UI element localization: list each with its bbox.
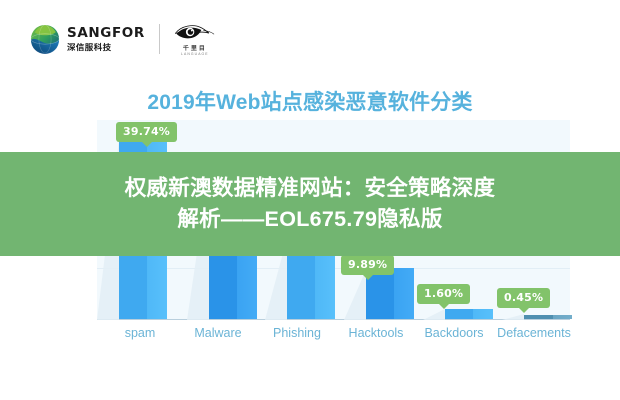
- overlay-line-2: 解析——EOL675.79隐私版: [125, 204, 496, 235]
- screenshot-canvas: SANGFOR 深信服科技 千里目 LANGUAGE 2019年Web站点感染恶…: [0, 0, 620, 400]
- bar-shadow-defacements: [502, 314, 524, 320]
- x-axis-label-hacktools: Hacktools: [331, 326, 421, 340]
- sangfor-logo: SANGFOR 深信服科技: [30, 24, 145, 54]
- value-label-spam: 39.74%: [116, 122, 177, 142]
- sangfor-wordmark: SANGFOR 深信服科技: [67, 27, 145, 51]
- partner-name-cn: 千里目: [183, 43, 207, 51]
- value-label-hacktools: 9.89%: [341, 255, 394, 275]
- overlay-line-1: 权威新澳数据精准网站：安全策略深度: [125, 176, 496, 200]
- x-axis-label-malware: Malware: [173, 326, 263, 340]
- overlay-text: 权威新澳数据精准网站：安全策略深度 解析——EOL675.79隐私版: [111, 173, 510, 234]
- globe-icon: [30, 24, 60, 54]
- bar-shadow-backdoors: [423, 309, 445, 320]
- partner-name-en: LANGUAGE: [181, 52, 209, 56]
- x-axis-label-defacements: Defacements: [483, 326, 585, 340]
- overlay-banner: 权威新澳数据精准网站：安全策略深度 解析——EOL675.79隐私版: [0, 152, 620, 256]
- chart-title: 2019年Web站点感染恶意软件分类: [0, 86, 620, 116]
- sangfor-name-en: SANGFOR: [67, 27, 145, 41]
- value-label-backdoors: 1.60%: [417, 284, 470, 304]
- sangfor-name-cn: 深信服科技: [67, 43, 145, 51]
- partner-logo: 千里目 LANGUAGE: [174, 22, 216, 56]
- header-logos: SANGFOR 深信服科技 千里目 LANGUAGE: [30, 20, 216, 58]
- x-axis-label-phishing: Phishing: [252, 326, 342, 340]
- logo-divider: [159, 24, 160, 54]
- value-label-defacements: 0.45%: [497, 288, 550, 308]
- x-axis-label-spam: spam: [95, 326, 185, 340]
- eye-icon: [174, 22, 216, 42]
